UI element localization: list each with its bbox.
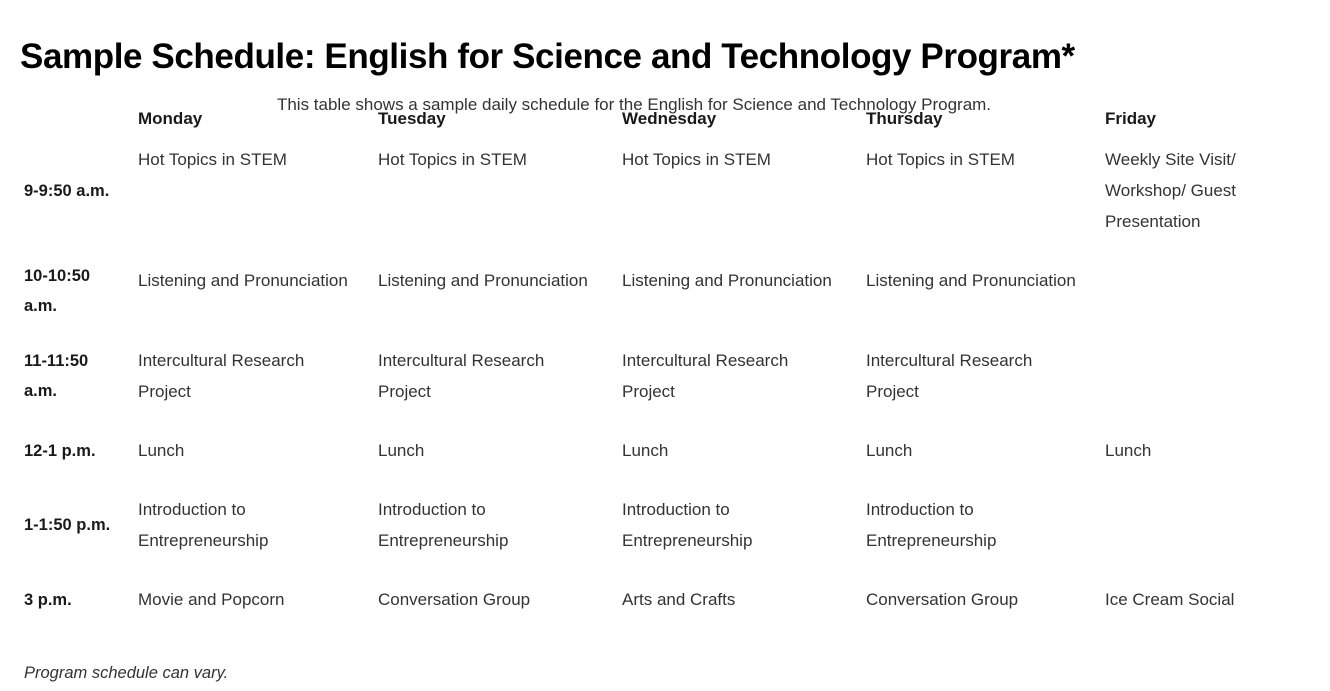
table-header: Monday Tuesday Wednesday Thursday Friday xyxy=(0,108,1305,130)
cell-wednesday: Lunch xyxy=(612,421,856,480)
cell-thursday: Conversation Group xyxy=(856,570,1095,629)
cell-wednesday: Introduction to Entrepreneurship xyxy=(612,480,856,570)
schedule-table: Monday Tuesday Wednesday Thursday Friday… xyxy=(0,108,1305,629)
cell-monday: Introduction to Entrepreneurship xyxy=(128,480,368,570)
row-time-label: 11-11:50 a.m. xyxy=(0,331,128,421)
cell-friday xyxy=(1095,331,1305,421)
table-row: 10-10:50 a.m. Listening and Pronunciatio… xyxy=(0,251,1305,331)
row-time-label: 12-1 p.m. xyxy=(0,421,128,480)
cell-tuesday: Conversation Group xyxy=(368,570,612,629)
cell-monday: Intercultural Research Project xyxy=(128,331,368,421)
column-header-time xyxy=(0,108,128,130)
cell-wednesday: Arts and Crafts xyxy=(612,570,856,629)
table-header-row: Monday Tuesday Wednesday Thursday Friday xyxy=(0,108,1305,130)
cell-friday xyxy=(1095,251,1305,331)
cell-monday: Lunch xyxy=(128,421,368,480)
page-title: Sample Schedule: English for Science and… xyxy=(20,35,1075,79)
table-row: 3 p.m. Movie and Popcorn Conversation Gr… xyxy=(0,570,1305,629)
table-row: 12-1 p.m. Lunch Lunch Lunch Lunch Lunch xyxy=(0,421,1305,480)
cell-tuesday: Lunch xyxy=(368,421,612,480)
schedule-page: Sample Schedule: English for Science and… xyxy=(0,0,1330,691)
column-header-thursday: Thursday xyxy=(856,108,1095,130)
row-time-label: 9-9:50 a.m. xyxy=(0,130,128,251)
column-header-friday: Friday xyxy=(1095,108,1305,130)
cell-wednesday: Listening and Pronunciation xyxy=(612,251,856,331)
cell-friday: Ice Cream Social xyxy=(1095,570,1305,629)
cell-friday xyxy=(1095,480,1305,570)
table-row: 11-11:50 a.m. Intercultural Research Pro… xyxy=(0,331,1305,421)
cell-friday: Lunch xyxy=(1095,421,1305,480)
cell-monday: Movie and Popcorn xyxy=(128,570,368,629)
cell-monday: Hot Topics in STEM xyxy=(128,130,368,251)
row-time-label: 3 p.m. xyxy=(0,570,128,629)
cell-wednesday: Hot Topics in STEM xyxy=(612,130,856,251)
cell-tuesday: Intercultural Research Project xyxy=(368,331,612,421)
cell-tuesday: Hot Topics in STEM xyxy=(368,130,612,251)
cell-thursday: Introduction to Entrepreneurship xyxy=(856,480,1095,570)
table-row: 9-9:50 a.m. Hot Topics in STEM Hot Topic… xyxy=(0,130,1305,251)
footnote: Program schedule can vary. xyxy=(24,662,228,684)
cell-thursday: Lunch xyxy=(856,421,1095,480)
row-time-label: 10-10:50 a.m. xyxy=(0,251,128,331)
cell-thursday: Hot Topics in STEM xyxy=(856,130,1095,251)
column-header-tuesday: Tuesday xyxy=(368,108,612,130)
table-row: 1-1:50 p.m. Introduction to Entrepreneur… xyxy=(0,480,1305,570)
cell-tuesday: Introduction to Entrepreneurship xyxy=(368,480,612,570)
row-time-label: 1-1:50 p.m. xyxy=(0,480,128,570)
table-body: 9-9:50 a.m. Hot Topics in STEM Hot Topic… xyxy=(0,130,1305,629)
cell-thursday: Listening and Pronunciation xyxy=(856,251,1095,331)
cell-friday: Weekly Site Visit/ Workshop/ Guest Prese… xyxy=(1095,130,1305,251)
cell-wednesday: Intercultural Research Project xyxy=(612,331,856,421)
cell-monday: Listening and Pronunciation xyxy=(128,251,368,331)
cell-tuesday: Listening and Pronunciation xyxy=(368,251,612,331)
cell-thursday: Intercultural Research Project xyxy=(856,331,1095,421)
column-header-wednesday: Wednesday xyxy=(612,108,856,130)
column-header-monday: Monday xyxy=(128,108,368,130)
